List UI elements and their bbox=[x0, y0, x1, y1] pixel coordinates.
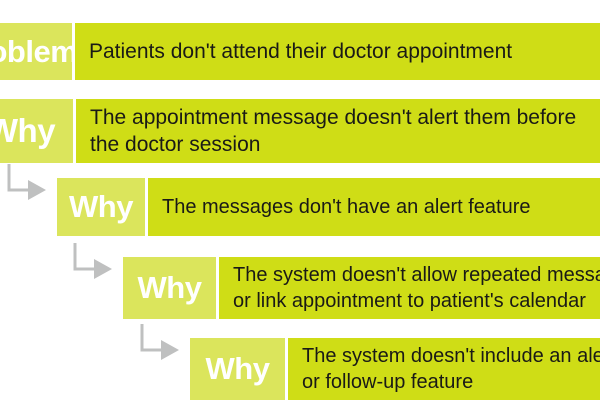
five-whys-diagram: Problem Patients don't attend their doct… bbox=[0, 0, 600, 417]
why-row-1: Why The appointment message doesn't aler… bbox=[0, 99, 600, 163]
statement-line: The system doesn't include an alert bbox=[302, 343, 600, 369]
elbow-arrow-icon bbox=[5, 162, 51, 206]
why-row-2: Why The messages don't have an alert fea… bbox=[57, 178, 600, 236]
row-statement-why-3: The system doesn't allow repeated messag… bbox=[219, 257, 600, 319]
why-row-4: Why The system doesn't include an alert … bbox=[190, 338, 600, 400]
statement-line: Patients don't attend their doctor appoi… bbox=[89, 38, 600, 65]
row-label-why-1: Why bbox=[0, 99, 73, 163]
row-label-why-4: Why bbox=[190, 338, 285, 400]
elbow-arrow-icon bbox=[138, 322, 184, 366]
row-label-why-3: Why bbox=[123, 257, 216, 319]
elbow-arrow-icon bbox=[71, 241, 117, 285]
row-statement-why-1: The appointment message doesn't alert th… bbox=[76, 99, 600, 163]
row-label-why-2: Why bbox=[57, 178, 145, 236]
statement-line: or link appointment to patient's calenda… bbox=[233, 288, 600, 314]
statement-line: The system doesn't allow repeated messag… bbox=[233, 262, 600, 288]
statement-line: The appointment message doesn't alert th… bbox=[90, 104, 600, 131]
statement-line: or follow-up feature bbox=[302, 369, 600, 395]
row-statement-why-2: The messages don't have an alert feature bbox=[148, 178, 600, 236]
row-statement-problem: Patients don't attend their doctor appoi… bbox=[75, 23, 600, 80]
statement-line: the doctor session bbox=[90, 131, 600, 158]
row-statement-why-4: The system doesn't include an alert or f… bbox=[288, 338, 600, 400]
why-row-3: Why The system doesn't allow repeated me… bbox=[123, 257, 600, 319]
statement-line: The messages don't have an alert feature bbox=[162, 194, 600, 220]
row-label-problem: Problem bbox=[0, 23, 72, 80]
why-row-problem: Problem Patients don't attend their doct… bbox=[0, 23, 600, 80]
